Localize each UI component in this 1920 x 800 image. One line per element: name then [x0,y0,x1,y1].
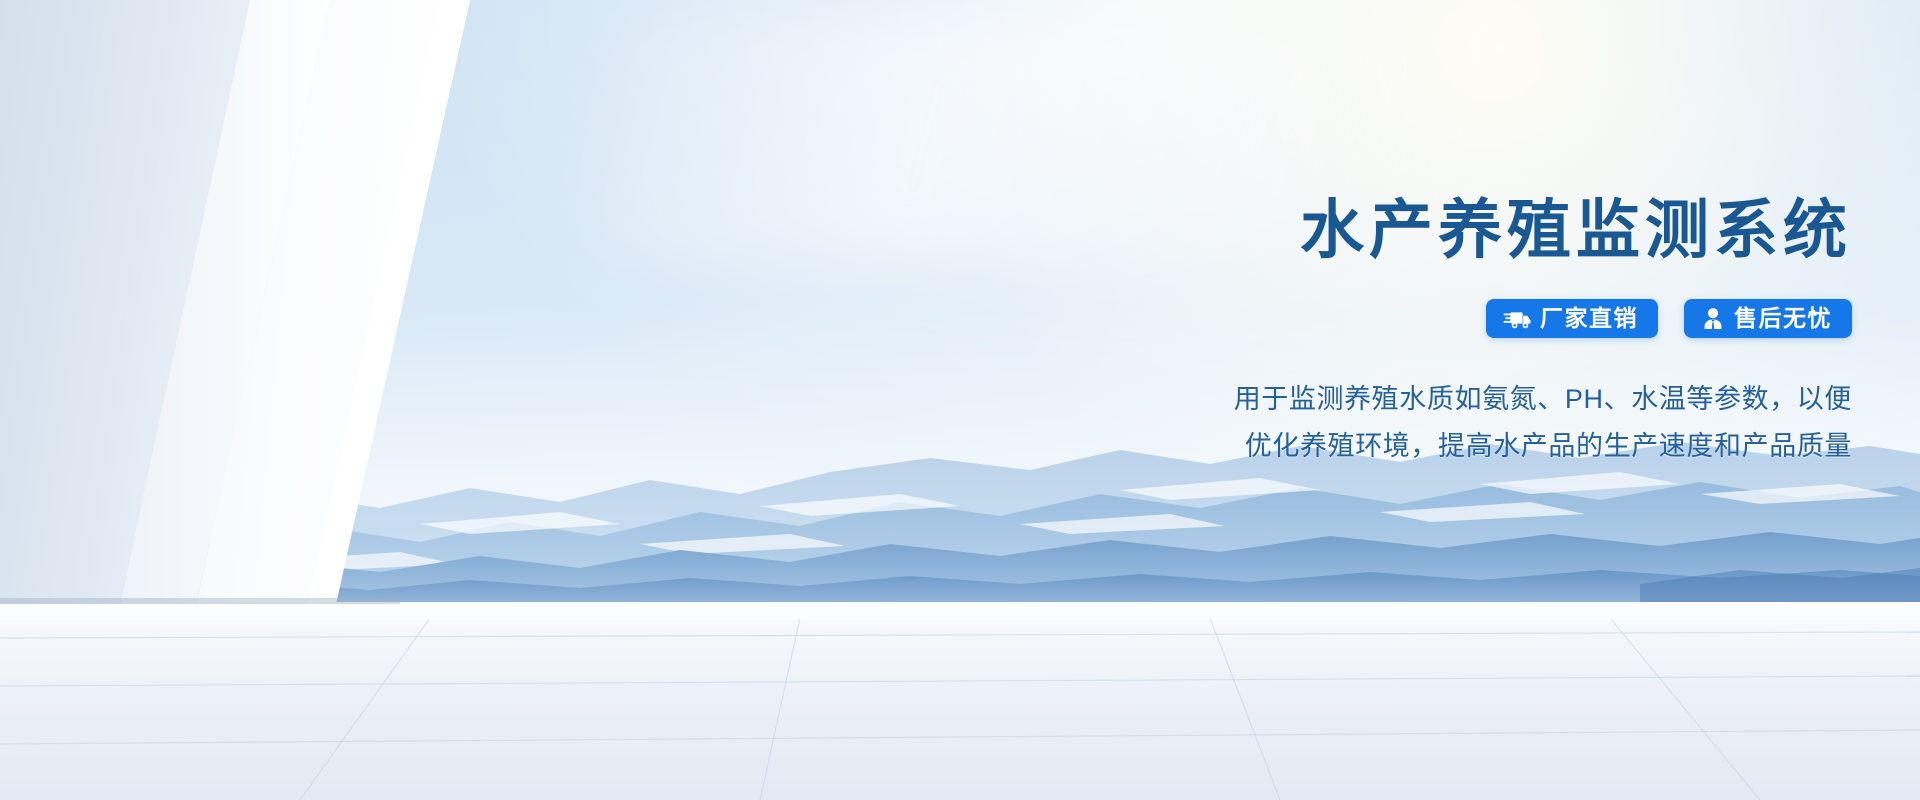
badge-after-sales-label: 售后无忧 [1734,307,1832,330]
description-line-1: 用于监测养殖水质如氨氮、PH、水温等参数，以便 [1112,376,1852,422]
badge-group: 厂家直销 售后无忧 [1112,299,1852,338]
page-title: 水产养殖监测系统 [1112,196,1852,265]
support-agent-icon [1701,307,1725,330]
architectural-structure [0,0,560,800]
badge-after-sales[interactable]: 售后无忧 [1684,299,1852,338]
delivery-truck-icon [1503,308,1531,330]
hero-banner: 水产养殖监测系统 厂家直销 [0,0,1920,800]
description-line-2: 优化养殖环境，提高水产品的生产速度和产品质量 [1112,423,1852,469]
badge-factory-direct-label: 厂家直销 [1540,307,1638,330]
banner-content: 水产养殖监测系统 厂家直销 [1112,196,1852,469]
banner-description: 用于监测养殖水质如氨氮、PH、水温等参数，以便 优化养殖环境，提高水产品的生产速… [1112,376,1852,469]
badge-factory-direct[interactable]: 厂家直销 [1486,299,1658,338]
